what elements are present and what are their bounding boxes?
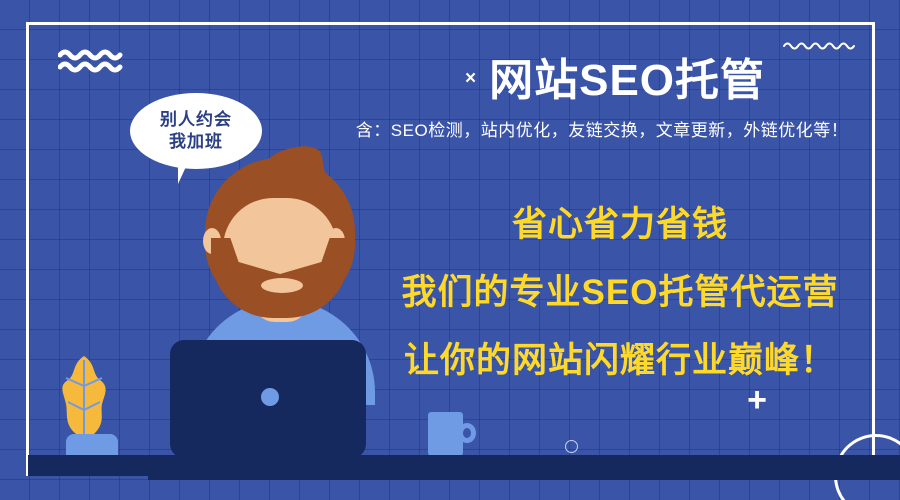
tagline-1: 省心省力省钱	[370, 196, 870, 247]
speech-bubble-line-2: 我加班	[169, 131, 223, 153]
title-text: 网站SEO托管	[489, 44, 765, 108]
title-x-mark: ×	[465, 68, 477, 90]
desk-edge	[148, 476, 900, 480]
tagline-3: 让你的网站闪耀行业巅峰！	[370, 332, 870, 383]
laptop-icon	[170, 340, 366, 458]
page-title: × 网站SEO托管	[355, 44, 875, 108]
speech-bubble: 别人约会 我加班	[130, 93, 262, 169]
wave-lines-icon	[58, 48, 126, 74]
tagline-2: 我们的专业SEO托管代运营	[370, 264, 870, 315]
desk-surface	[28, 455, 900, 476]
speech-bubble-line-1: 别人约会	[160, 109, 232, 131]
mug-body	[428, 412, 463, 458]
plant-leaf-icon	[48, 352, 120, 447]
laptop-logo-icon	[261, 388, 279, 406]
person-mouth	[261, 278, 303, 293]
plus-mark-icon: +	[744, 388, 770, 414]
seo-hosting-banner: + × 网站SEO托管 含：SEO检测，站内优化，友链交换，文章更新，外链优化等…	[0, 0, 900, 500]
potted-plant-icon	[48, 352, 120, 462]
subtitle-text: 含：SEO检测，站内优化，友链交换，文章更新，外链优化等！	[332, 116, 872, 141]
circle-outline-icon	[565, 440, 578, 453]
coffee-mug-icon	[428, 412, 478, 458]
